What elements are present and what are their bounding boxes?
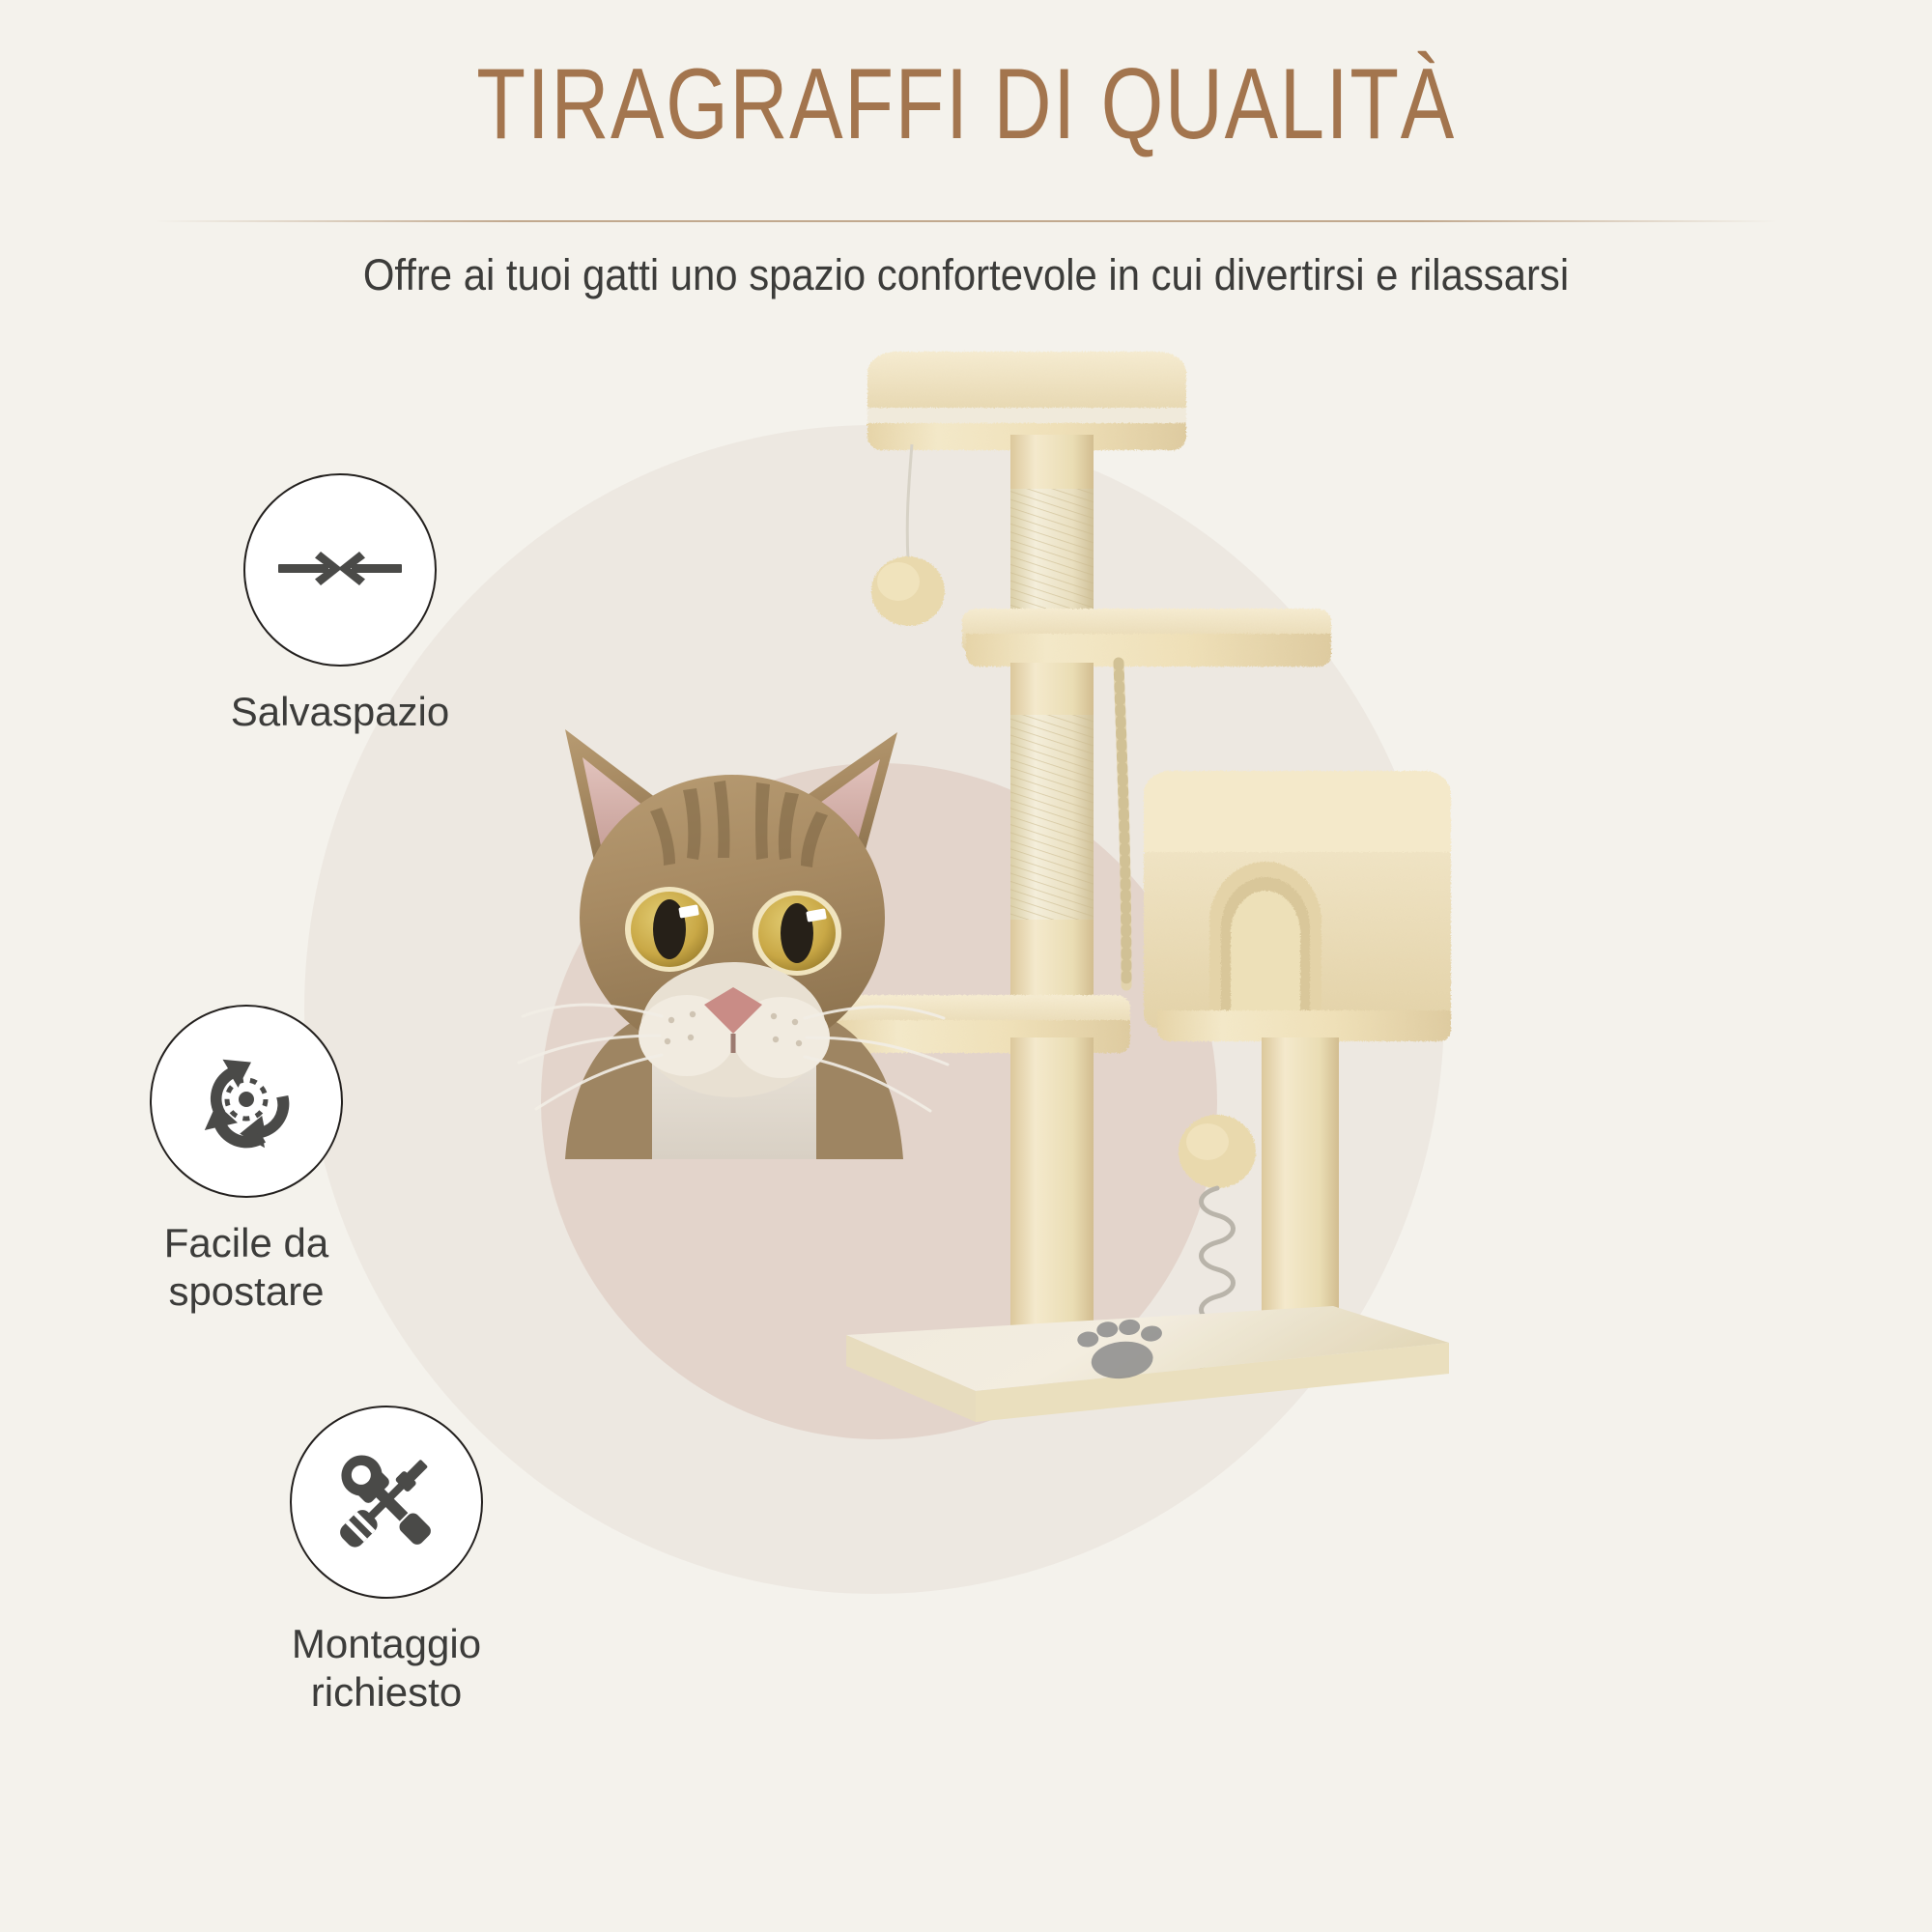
condo-house bbox=[1144, 771, 1451, 1041]
poster-canvas: TIRAGRAFFI DI QUALITÀ Offre ai tuoi gatt… bbox=[0, 0, 1932, 1932]
cat-eye-left bbox=[625, 887, 714, 972]
header-divider bbox=[155, 220, 1777, 222]
feature-item-montaggio-richiesto: Montaggio richiesto bbox=[193, 1406, 580, 1716]
hanging-rope bbox=[1119, 663, 1126, 985]
feature-icon-badge bbox=[290, 1406, 483, 1599]
lower-post bbox=[1010, 1037, 1094, 1333]
feature-icon-badge bbox=[243, 473, 437, 667]
feature-item-facile-da-spostare: Facile da spostare bbox=[53, 1005, 440, 1315]
feature-item-salvaspazio: Salvaspazio bbox=[147, 473, 533, 736]
screwdriver-wrench-icon bbox=[324, 1437, 449, 1568]
feature-label: Salvaspazio bbox=[147, 688, 533, 736]
mid-post bbox=[1010, 663, 1094, 1012]
feature-label: Facile da spostare bbox=[53, 1219, 440, 1315]
cat-eye-right bbox=[753, 891, 841, 976]
space-saving-arrows-icon bbox=[272, 534, 408, 607]
base-board bbox=[846, 1306, 1449, 1422]
feature-label: Montaggio richiesto bbox=[193, 1620, 580, 1716]
mid-platform bbox=[962, 609, 1331, 667]
header: TIRAGRAFFI DI QUALITÀ bbox=[0, 0, 1932, 158]
cat-photo bbox=[507, 676, 961, 1159]
rotate-arrows-icon bbox=[183, 1036, 310, 1168]
page-subtitle: Offre ai tuoi gatti uno spazio confortev… bbox=[68, 249, 1864, 301]
page-title: TIRAGRAFFI DI QUALITÀ bbox=[193, 0, 1739, 158]
hanging-pom-pom bbox=[871, 444, 945, 626]
feature-icon-badge bbox=[150, 1005, 343, 1198]
condo-support-post bbox=[1262, 1037, 1339, 1333]
